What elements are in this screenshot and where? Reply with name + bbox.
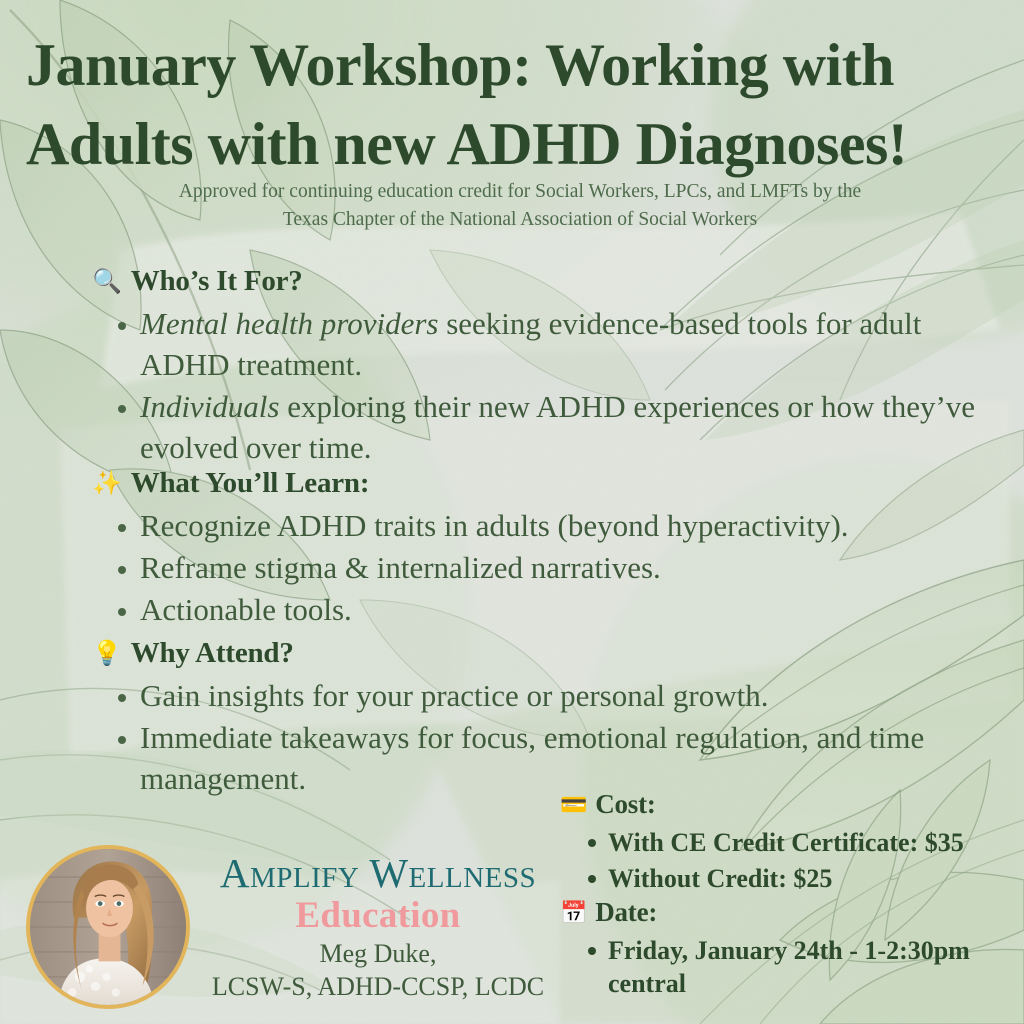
section-bullet-list: Recognize ADHD traits in adults (beyond …: [92, 506, 992, 631]
bullet-lead-emphasis: Mental health providers: [140, 306, 438, 341]
avatar: [26, 845, 190, 1009]
section-heading: 💡 Why Attend?: [92, 638, 992, 670]
sparkles-icon: ✨: [92, 471, 122, 495]
section-heading-label: What You’ll Learn:: [131, 468, 370, 500]
credit-card-icon: 💳: [560, 795, 587, 817]
presenter-credentials: LCSW-S, ADHD-CCSP, LCDC: [178, 971, 578, 1004]
section-heading-label: Who’s It For?: [131, 266, 303, 298]
bullet-text: Reframe stigma & internalized narratives…: [140, 550, 661, 585]
list-item: With CE Credit Certificate: $35: [560, 826, 1024, 859]
section-heading-label: Why Attend?: [131, 638, 294, 670]
list-item: Without Credit: $25: [560, 862, 1024, 895]
date-heading: 📅 Date:: [560, 898, 1024, 928]
section-bullet-list: Gain insights for your practice or perso…: [92, 676, 992, 800]
section-heading: 🔍 Who’s It For?: [92, 266, 992, 298]
cost-and-date-block: 💳 Cost: With CE Credit Certificate: $35 …: [560, 790, 1024, 1003]
list-item: Mental health providers seeking evidence…: [92, 304, 992, 386]
flyer-title: January Workshop: Working with Adults wi…: [26, 26, 1011, 184]
bullet-text: Immediate takeaways for focus, emotional…: [140, 720, 924, 796]
section-heading: ✨ What You’ll Learn:: [92, 468, 992, 500]
section-bullet-list: Mental health providers seeking evidence…: [92, 304, 992, 469]
logo-line-2: Education: [178, 895, 578, 936]
cost-list: With CE Credit Certificate: $35 Without …: [560, 826, 1024, 896]
list-item: Actionable tools.: [92, 590, 992, 631]
bullet-text: Recognize ADHD traits in adults (beyond …: [140, 508, 849, 543]
list-item: Reframe stigma & internalized narratives…: [92, 548, 992, 589]
section-why-attend: 💡 Why Attend? Gain insights for your pra…: [92, 638, 992, 801]
list-item: Immediate takeaways for focus, emotional…: [92, 718, 992, 800]
list-item: Individuals exploring their new ADHD exp…: [92, 387, 992, 469]
presenter-name: Meg Duke,: [178, 938, 578, 971]
light-bulb-icon: 💡: [92, 641, 122, 665]
magnifying-glass-icon: 🔍: [92, 269, 122, 293]
list-item: Gain insights for your practice or perso…: [92, 676, 992, 717]
section-whos-it-for: 🔍 Who’s It For? Mental health providers …: [92, 266, 992, 470]
cost-heading: 💳 Cost:: [560, 790, 1024, 820]
logo-line-1: Amplify Wellness: [178, 852, 578, 895]
cost-heading-label: Cost:: [595, 790, 656, 820]
date-list: Friday, January 24th - 1-2:30pm central: [560, 934, 1024, 1001]
bullet-text: Actionable tools.: [140, 592, 352, 627]
list-item: Recognize ADHD traits in adults (beyond …: [92, 506, 992, 547]
brand-logo: Amplify Wellness Education Meg Duke, LCS…: [178, 852, 578, 1004]
accreditation-subtitle: Approved for continuing education credit…: [160, 178, 880, 234]
date-heading-label: Date:: [595, 898, 657, 928]
bullet-text: Gain insights for your practice or perso…: [140, 678, 768, 713]
list-item: Friday, January 24th - 1-2:30pm central: [560, 934, 1024, 1001]
section-what-youll-learn: ✨ What You’ll Learn: Recognize ADHD trai…: [92, 468, 992, 632]
bullet-lead-emphasis: Individuals: [140, 389, 280, 424]
